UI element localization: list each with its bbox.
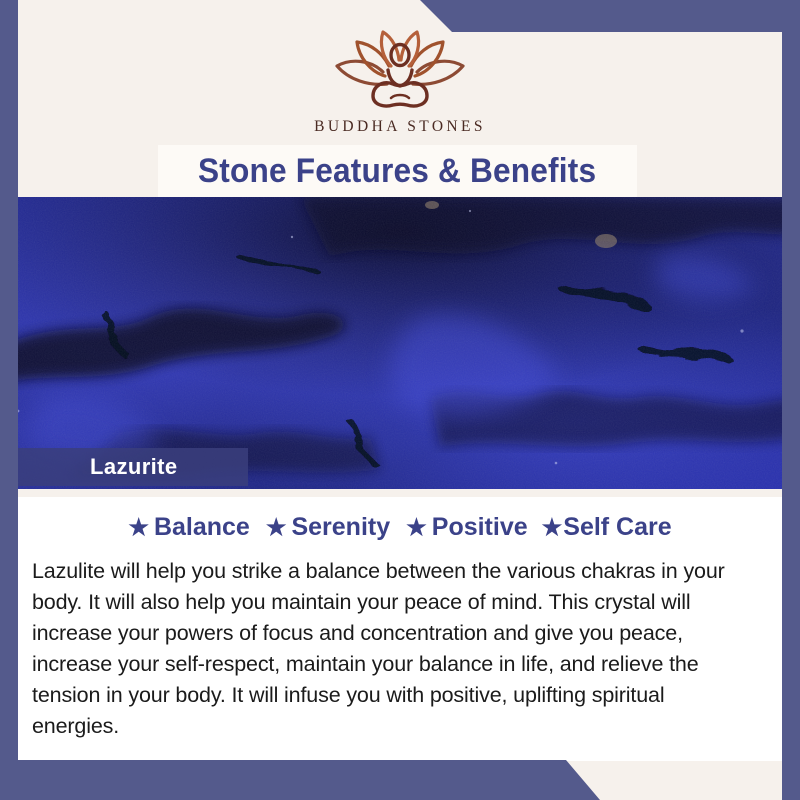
page-title: Stone Features & Benefits bbox=[198, 152, 596, 191]
left-border-strip bbox=[0, 0, 18, 800]
keyword-label: Self Care bbox=[563, 513, 671, 542]
right-border-strip bbox=[782, 0, 800, 800]
star-icon: ★ bbox=[266, 516, 287, 539]
brand-name: BUDDHA STONES bbox=[18, 118, 782, 136]
content-card: ★ Balance ★ Serenity ★ Positive ★ Self C… bbox=[18, 489, 782, 761]
lotus-meditation-icon bbox=[325, 22, 475, 114]
keyword-label: Serenity bbox=[291, 513, 390, 542]
bottom-diagonal-band bbox=[0, 760, 800, 800]
keyword-list: ★ Balance ★ Serenity ★ Positive ★ Self C… bbox=[18, 513, 782, 542]
keyword-label: Balance bbox=[154, 513, 250, 542]
star-icon: ★ bbox=[406, 516, 427, 539]
keyword-label: Positive bbox=[432, 513, 528, 542]
keyword-item-positive: ★ Positive bbox=[406, 513, 528, 542]
keyword-item-balance: ★ Balance bbox=[128, 513, 250, 542]
star-icon: ★ bbox=[128, 516, 149, 539]
description-paragraph: Lazulite will help you strike a balance … bbox=[32, 556, 754, 742]
star-icon: ★ bbox=[542, 516, 563, 539]
poster-root: BUDDHA STONES Stone Features & Benefits bbox=[0, 0, 800, 800]
stone-name-bar: Lazurite bbox=[18, 448, 248, 486]
keyword-item-serenity: ★ Serenity bbox=[266, 513, 390, 542]
keyword-item-self-care: ★ Self Care bbox=[542, 513, 672, 542]
brand-logo: BUDDHA STONES bbox=[18, 22, 782, 136]
title-banner: Stone Features & Benefits bbox=[158, 145, 637, 197]
stone-name-label: Lazurite bbox=[18, 454, 178, 480]
card-top-tint bbox=[18, 489, 782, 497]
